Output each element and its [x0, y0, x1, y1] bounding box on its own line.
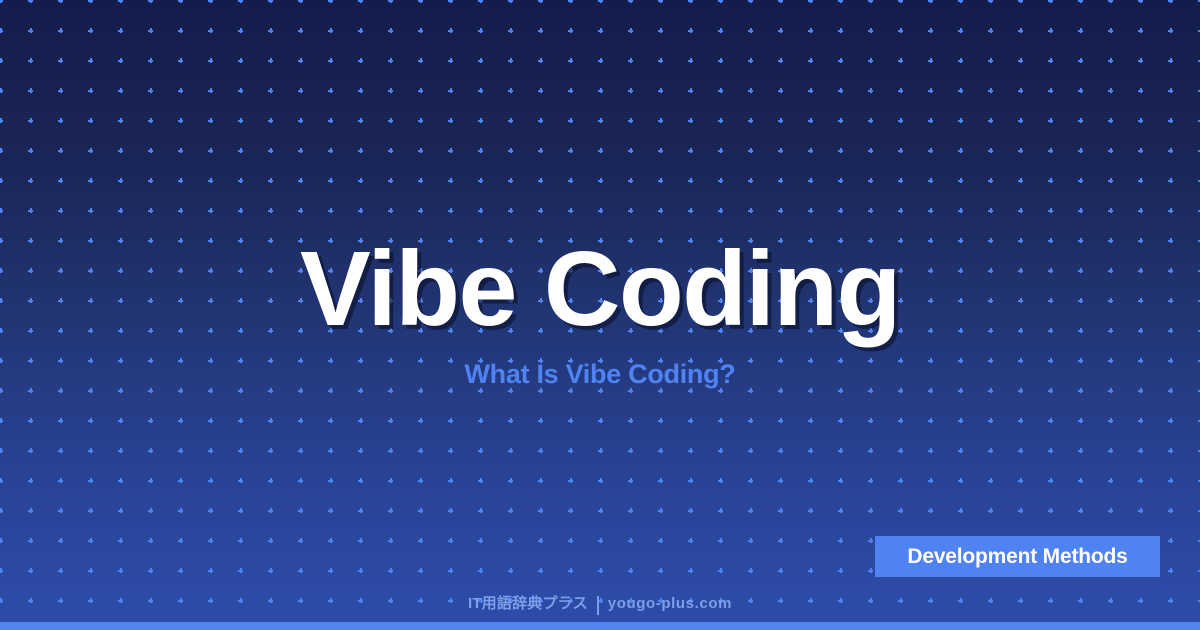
footer: IT用語辞典プラスyougo-plus.com	[0, 592, 1200, 614]
footer-domain: yougo-plus.com	[608, 595, 732, 612]
tofu-box-icon	[597, 596, 599, 615]
category-badge-label: Development Methods	[907, 545, 1127, 569]
footer-brand-name: IT用語辞典プラス	[468, 595, 588, 612]
og-card: Vibe Coding What Is Vibe Coding? Develop…	[0, 0, 1200, 630]
hero-text-block: Vibe Coding What Is Vibe Coding?	[0, 236, 1200, 390]
category-badge: Development Methods	[875, 536, 1160, 577]
bottom-accent-bar	[0, 622, 1200, 630]
page-title: Vibe Coding	[0, 236, 1200, 342]
page-subtitle: What Is Vibe Coding?	[0, 358, 1200, 390]
card-content: Vibe Coding What Is Vibe Coding? Develop…	[0, 0, 1200, 630]
